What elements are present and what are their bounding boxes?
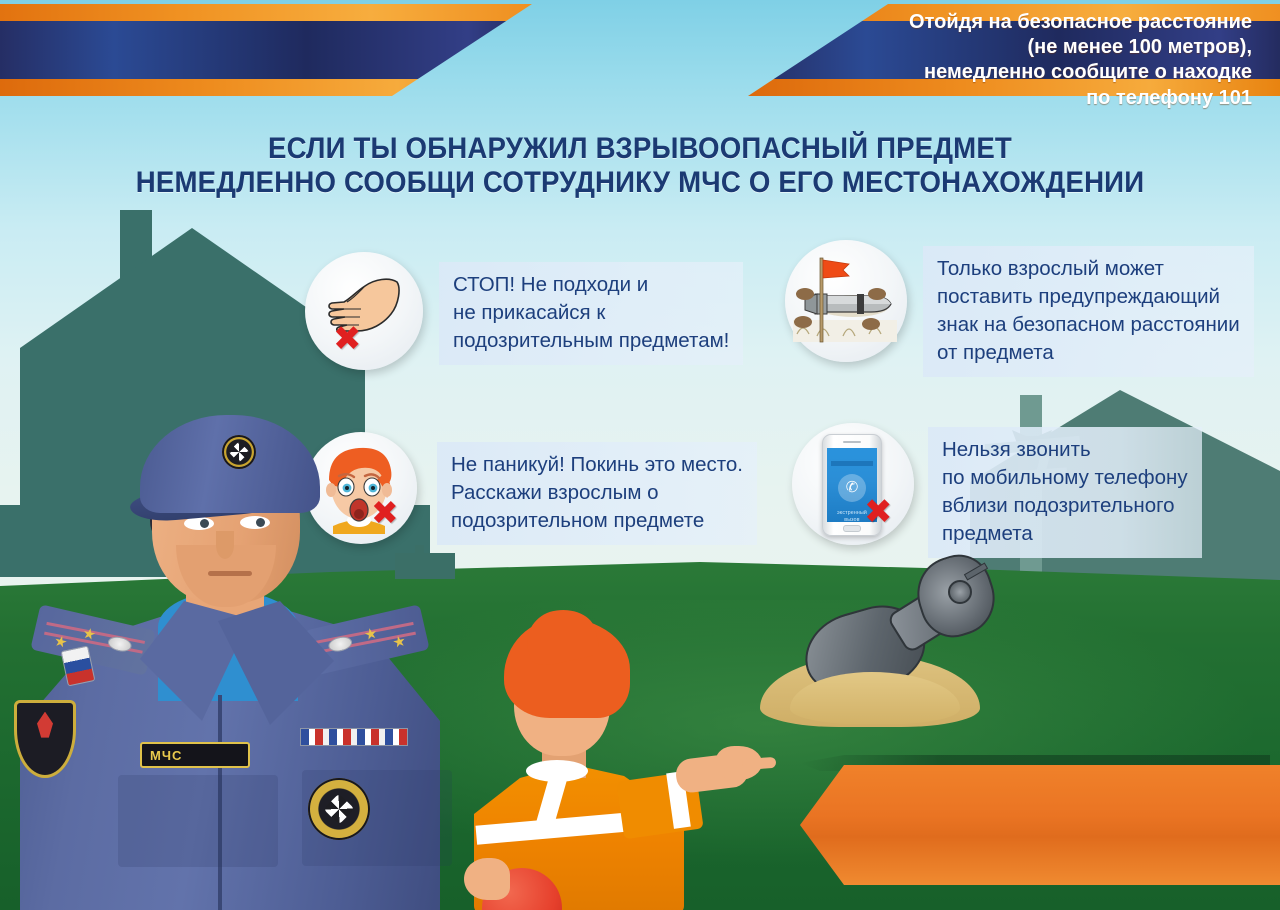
boy-collar — [526, 760, 588, 782]
poster-headline: ЕСЛИ ТЫ ОБНАРУЖИЛ ВЗРЫВООПАСНЫЙ ПРЕДМЕТ … — [0, 132, 1280, 200]
banner-line: (не менее 100 метров), — [822, 35, 1252, 60]
red-x-icon: ✖ — [333, 322, 362, 356]
officer-ribbon-bar — [300, 728, 408, 746]
mortar-shell-icon-circle — [785, 240, 907, 362]
tip-card-no-approach: ✖ СТОП! Не подходи и не прикасайся к под… — [305, 252, 743, 370]
tip-card-adult-marks: Только взрослый может поставить предупре… — [785, 240, 1254, 377]
officer-nose — [216, 531, 234, 559]
bomb-tail-hub — [948, 580, 972, 604]
ribbon-orange-top-stripe — [0, 4, 532, 21]
tip-text-do-not-panic: Не паникуй! Покинь это место. Расскажи в… — [437, 442, 757, 545]
banner-line: немедленно сообщите о находке — [822, 60, 1252, 85]
tip-line: Расскажи взрослым о — [451, 479, 743, 507]
emergency-banner-text: Отойдя на безопасное расстояние (не мене… — [822, 10, 1252, 111]
tip-line: от предмета — [937, 339, 1240, 367]
tip-text-no-mobile-call: Нельзя звонить по мобильному телефону вб… — [928, 427, 1202, 558]
phone-home-button — [843, 525, 861, 532]
boy-pointing-finger — [742, 757, 777, 770]
tip-line: Не паникуй! Покинь это место. — [451, 451, 743, 479]
tip-text-no-approach: СТОП! Не подходи и не прикасайся к подоз… — [439, 262, 743, 365]
banner-line: Отойдя на безопасное расстояние — [822, 10, 1252, 35]
tip-line: предмета — [942, 520, 1188, 548]
headline-line-1: ЕСЛИ ТЫ ОБНАРУЖИЛ ВЗРЫВООПАСНЫЙ ПРЕДМЕТ — [51, 132, 1229, 166]
emergency-banner — [800, 765, 1280, 885]
tip-line: не прикасайся к — [453, 299, 729, 327]
tip-line: по мобильному телефону — [942, 464, 1188, 492]
mortar-shell-with-red-flag-icon — [793, 248, 897, 352]
tip-line: подозрительном предмете — [451, 507, 743, 535]
hand-stop-icon-circle: ✖ — [305, 252, 423, 370]
tip-line: поставить предупреждающий — [937, 283, 1240, 311]
mchs-star-emblem-icon — [222, 435, 256, 469]
officer-mouth — [208, 571, 252, 576]
banner-line: по телефону 101 — [822, 86, 1252, 111]
phone-speaker — [843, 441, 861, 443]
tip-line: Только взрослый может — [937, 255, 1240, 283]
officer-pupil-right — [256, 518, 265, 527]
tip-line: СТОП! Не подходи и — [453, 271, 729, 299]
tip-text-adult-marks: Только взрослый может поставить предупре… — [923, 246, 1254, 377]
tip-line: Нельзя звонить — [942, 436, 1188, 464]
officer-pocket-left — [118, 775, 278, 867]
poster-root: ЕСЛИ ТЫ ОБНАРУЖИЛ ВЗРЫВООПАСНЫЙ ПРЕДМЕТ … — [0, 0, 1280, 910]
red-x-icon: ✖ — [864, 495, 893, 529]
mchs-emercom-round-patch-icon — [308, 778, 370, 840]
tip-card-no-mobile-call: ✆ экстренный вызов ✖ Нельзя звонить по м… — [792, 423, 1202, 558]
officer-pupil-left — [200, 519, 209, 528]
tip-line: подозрительным предметам! — [453, 327, 729, 355]
tip-line: вблизи подозрительного — [942, 492, 1188, 520]
officer-name-plate: МЧС — [140, 742, 250, 768]
mobile-phone-icon-circle: ✆ экстренный вызов ✖ — [792, 423, 914, 545]
headline-line-2: НЕМЕДЛЕННО СООБЩИ СОТРУДНИКУ МЧС О ЕГО М… — [51, 166, 1229, 200]
phone-status-bar — [831, 461, 873, 466]
tip-line: знак на безопасном расстоянии — [937, 311, 1240, 339]
aerial-bomb-icon — [800, 552, 990, 692]
boy-hand-holding-ball — [464, 858, 510, 900]
officer-eye-right — [240, 516, 270, 529]
boy-character — [430, 600, 770, 910]
phone-handset-icon: ✆ — [846, 480, 859, 495]
